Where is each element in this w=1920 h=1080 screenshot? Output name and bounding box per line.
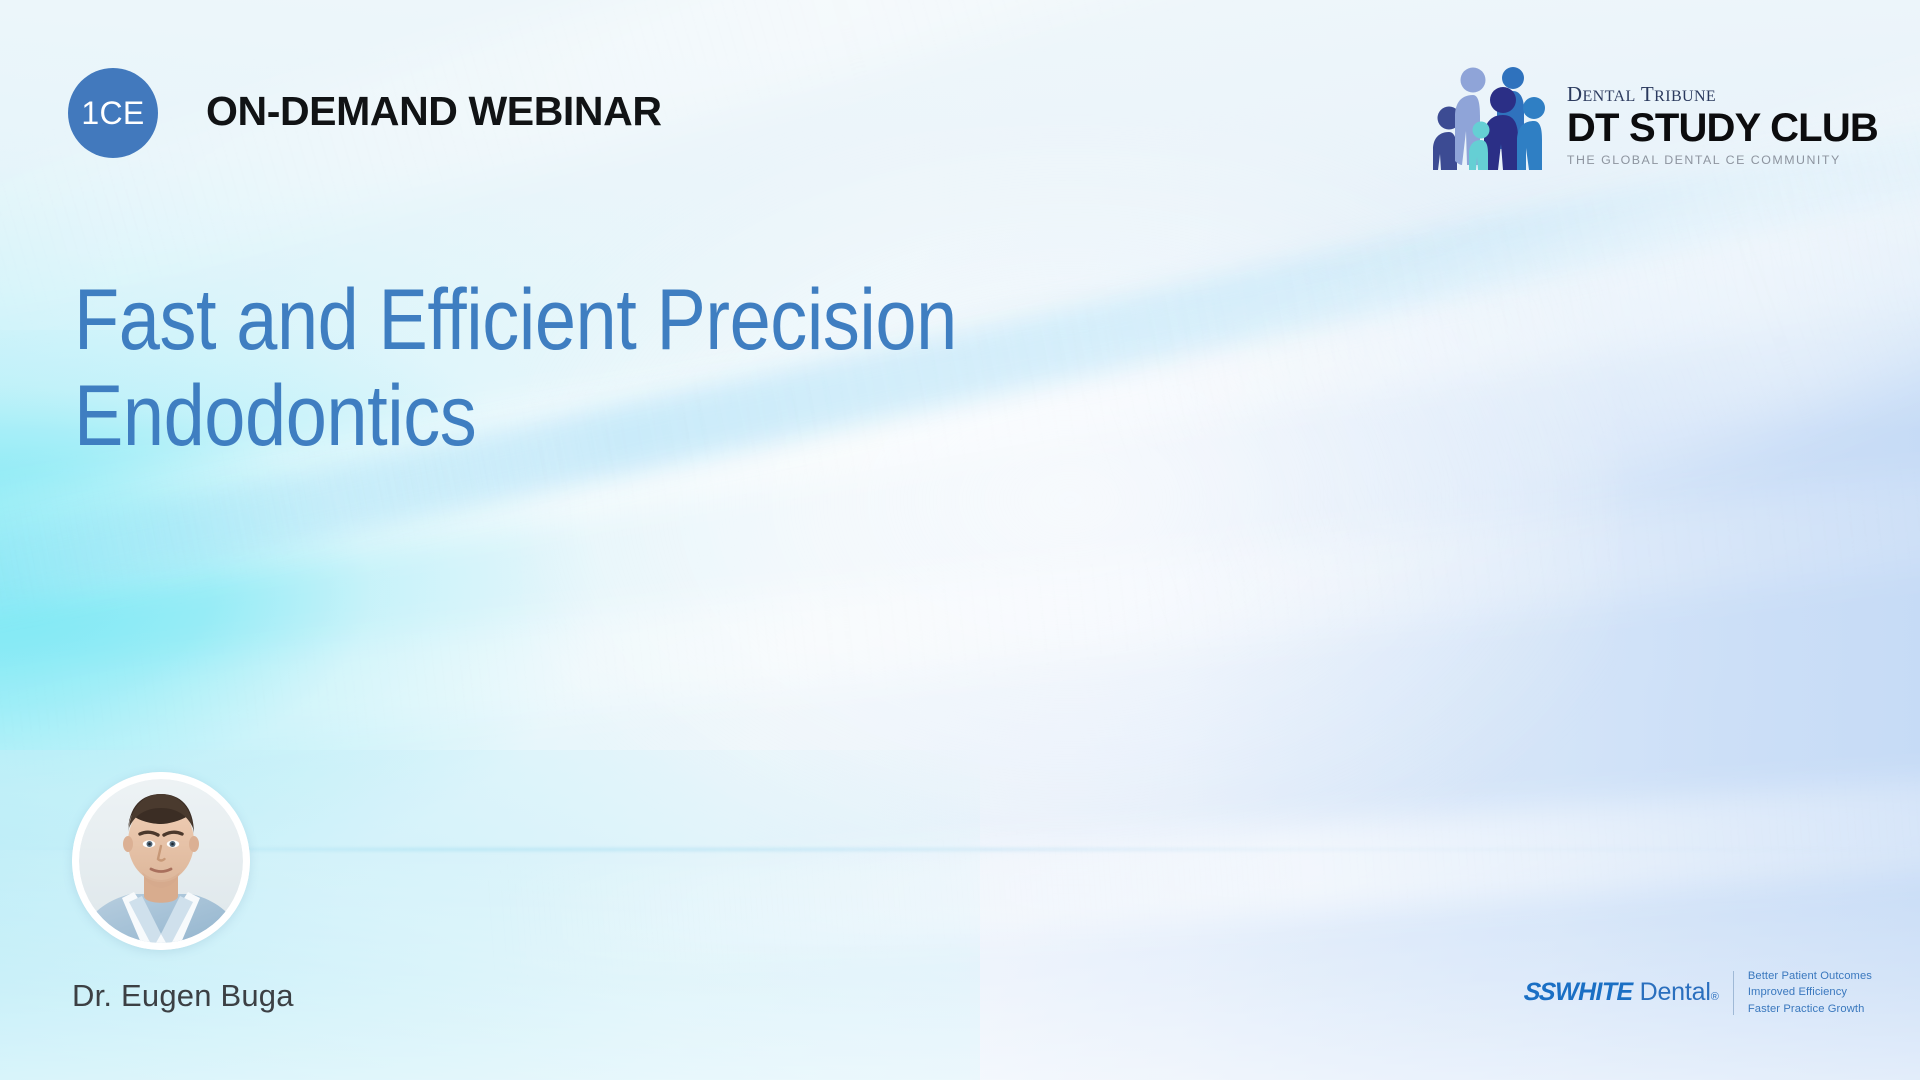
sponsor-taglines: Better Patient Outcomes Improved Efficie… bbox=[1748, 968, 1872, 1018]
speaker-name: Dr. Eugen Buga bbox=[72, 978, 294, 1014]
ce-credit-badge-label: 1CE bbox=[81, 95, 144, 132]
background-bottom-fade bbox=[0, 840, 1920, 1080]
page-title: Fast and Efficient Precision Endodontics bbox=[74, 272, 1192, 465]
people-group-icon bbox=[1429, 58, 1551, 170]
webinar-type-label: ON-DEMAND WEBINAR bbox=[206, 88, 662, 135]
sponsor-tagline-1: Better Patient Outcomes bbox=[1748, 968, 1872, 985]
sponsor-ss-mark: SS bbox=[1522, 978, 1555, 1007]
dt-study-club-wordmark: DT STUDY CLUB bbox=[1567, 108, 1878, 148]
avatar-ring bbox=[72, 772, 250, 950]
sponsor-divider bbox=[1733, 971, 1734, 1015]
dt-logo-text: DENTAL TRIBUNE DT STUDY CLUB THE GLOBAL … bbox=[1567, 84, 1878, 170]
sponsor-brand-suffix: Dental bbox=[1640, 978, 1711, 1007]
dt-study-club-tagline: THE GLOBAL DENTAL CE COMMUNITY bbox=[1567, 154, 1878, 166]
dt-study-club-logo: DENTAL TRIBUNE DT STUDY CLUB THE GLOBAL … bbox=[1429, 58, 1878, 170]
webinar-title-slide: 1CE ON-DEMAND WEBINAR DENTAL TRIBUNE bbox=[0, 0, 1920, 1080]
page-title-line-1: Fast and Efficient Precision bbox=[74, 272, 1192, 368]
avatar bbox=[72, 772, 250, 950]
dental-tribune-wordmark: DENTAL TRIBUNE bbox=[1567, 84, 1878, 105]
page-title-line-2: Endodontics bbox=[74, 368, 1192, 464]
ce-credit-badge: 1CE bbox=[68, 68, 158, 158]
sponsor-wordmark: SS WHITE Dental ® bbox=[1524, 978, 1719, 1007]
sponsor-tagline-2: Improved Efficiency bbox=[1748, 984, 1872, 1001]
sponsor-brand-name: WHITE bbox=[1555, 978, 1633, 1007]
sponsor-tagline-3: Faster Practice Growth bbox=[1748, 1001, 1872, 1018]
registered-trademark-icon: ® bbox=[1711, 991, 1719, 1003]
sponsor-logo: SS WHITE Dental ® Better Patient Outcome… bbox=[1524, 968, 1872, 1018]
